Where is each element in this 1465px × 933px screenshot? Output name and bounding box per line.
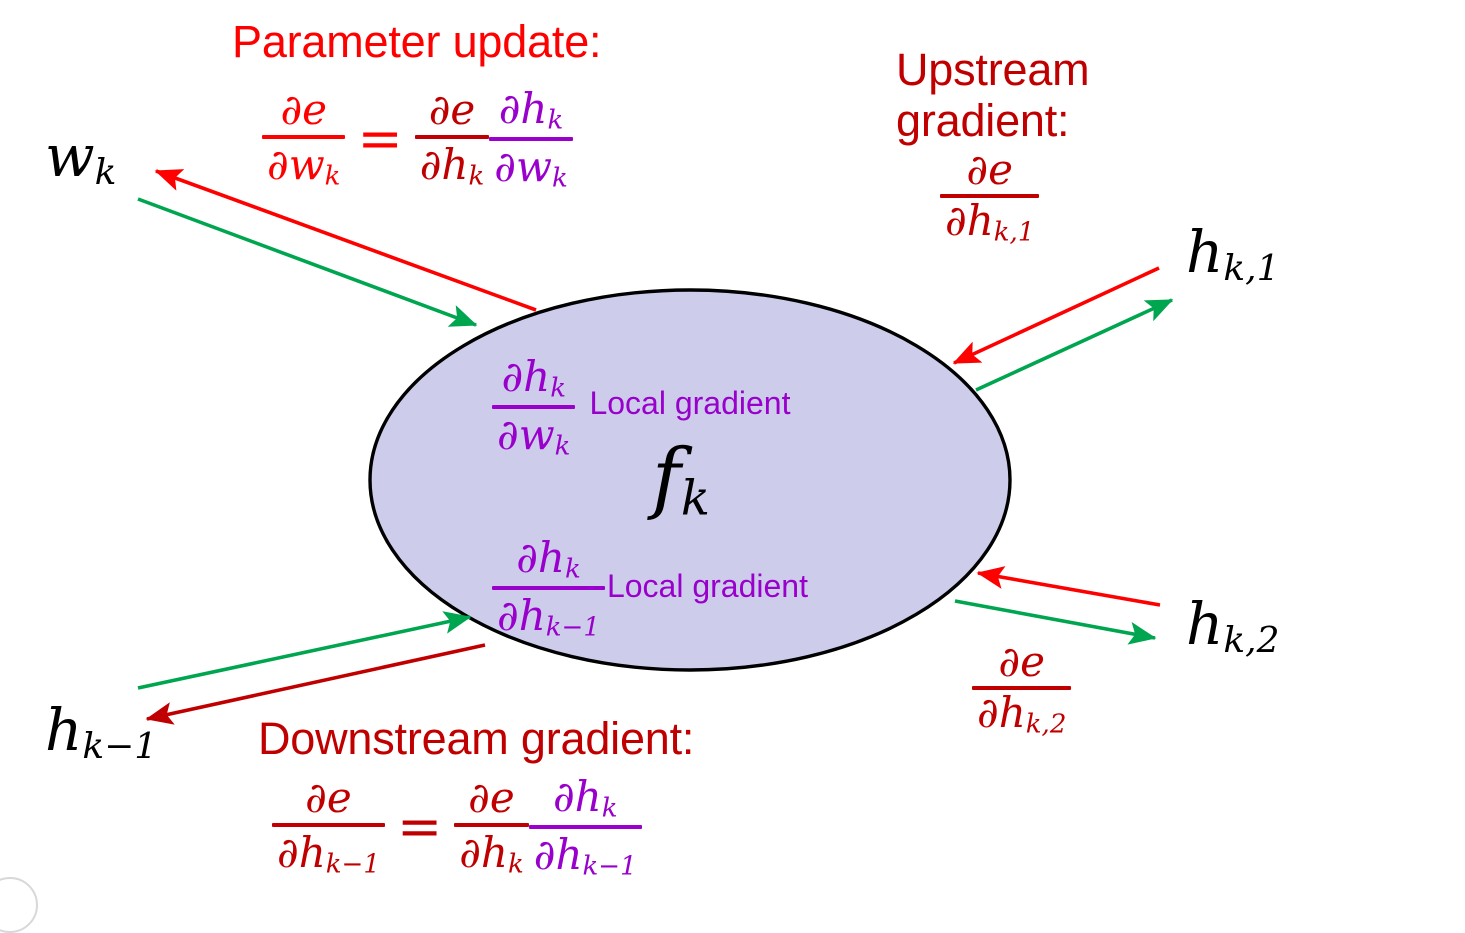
param-update-lhs-numerator: ∂e [262,85,345,134]
downstream-rhs2-numerator: ∂hk [529,772,642,824]
local-gradient-top-denominator: ∂wk [492,410,575,462]
downstream-lhs-numerator: ∂e [272,773,385,822]
fraction-bar [415,135,490,139]
param-update-lhs-fraction: ∂e ∂wk [262,85,345,192]
downstream-rhs1-numerator: ∂e [454,773,529,822]
local-gradient-bottom-denominator: ∂hk−1 [492,591,605,643]
param-update-rhs2-numerator: ∂hk [489,84,572,136]
fraction-bar [489,137,572,141]
arrow-forward-w-into-node [138,199,476,325]
param-update-rhs1-denominator: ∂hk [415,140,490,192]
node-local-gradient-bottom-row: ∂hk ∂hk−1 Local gradient [492,533,808,642]
arrow-backward-node-to-h-prev [147,645,485,719]
node-local-gradient-top-row: ∂hk ∂wk Local gradient [492,352,790,461]
param-update-rhs1-fraction: ∂e ∂hk [415,85,490,192]
arrow-forward-h-prev-into-node [138,617,470,688]
param-update-rhs2-denominator: ∂wk [489,142,572,194]
param-update-lhs-denominator: ∂wk [262,140,345,192]
arrow-backward-h-k-1-to-node [954,268,1159,363]
lower-right-gradient-fraction-wrap: ∂e ∂hk,2 [972,640,1071,739]
parameter-update-heading: Parameter update: [232,18,601,66]
downstream-rhs1-denominator: ∂hk [454,828,529,880]
upstream-gradient-numerator: ∂e [940,148,1039,193]
label-h-k-1: hk,1 [1186,222,1279,288]
lower-right-gradient-numerator: ∂e [972,640,1071,685]
downstream-gradient-heading: Downstream gradient: [258,715,694,763]
local-gradient-bottom-numerator: ∂hk [492,533,605,585]
lower-right-gradient-fraction: ∂e ∂hk,2 [972,640,1071,739]
label-h-k-2: hk,2 [1186,594,1279,660]
param-update-equals-sign: = [345,107,414,170]
downstream-rhs2-fraction: ∂hk ∂hk−1 [529,772,642,881]
downstream-lhs-denominator: ∂hk−1 [272,828,385,880]
param-update-rhs2-fraction: ∂hk ∂wk [489,84,572,193]
fraction-bar [454,823,529,827]
downstream-equals-sign: = [385,795,454,858]
diagram-canvas: Parameter update: ∂e ∂wk = ∂e ∂hk ∂hk ∂w… [0,0,1465,915]
local-gradient-top-numerator: ∂hk [492,352,575,404]
arrow-backward-h-k-2-to-node [978,573,1160,605]
local-gradient-bottom-fraction: ∂hk ∂hk−1 [492,533,605,642]
upstream-gradient-fraction: ∂e ∂hk,1 [940,148,1039,247]
downstream-rhs1-fraction: ∂e ∂hk [454,773,529,880]
fraction-bar [492,586,605,590]
downstream-gradient-equation: ∂e ∂hk−1 = ∂e ∂hk ∂hk ∂hk−1 [272,772,642,881]
label-w-k: wk [45,126,116,192]
upstream-gradient-heading-line1: Upstream [896,46,1089,94]
local-gradient-top-fraction: ∂hk ∂wk [492,352,575,461]
upstream-gradient-denominator: ∂hk,1 [940,199,1039,247]
arrow-forward-node-to-h-k-1 [976,300,1172,390]
lower-right-gradient-denominator: ∂hk,2 [972,691,1071,739]
local-gradient-top-caption: Local gradient [575,385,790,428]
fraction-bar [529,825,642,829]
upstream-gradient-heading-line2: gradient: [896,97,1069,145]
downstream-rhs2-denominator: ∂hk−1 [529,830,642,882]
fraction-bar [272,823,385,827]
fraction-bar [492,405,575,409]
fraction-bar [262,135,345,139]
parameter-update-equation: ∂e ∂wk = ∂e ∂hk ∂hk ∂wk [262,84,573,193]
label-h-k-minus-1: hk−1 [45,700,157,766]
corner-arc-artifact [0,877,38,933]
node-function-label: fk [652,437,710,524]
local-gradient-bottom-caption: Local gradient [605,568,808,607]
downstream-lhs-fraction: ∂e ∂hk−1 [272,773,385,880]
param-update-rhs1-numerator: ∂e [415,85,490,134]
upstream-gradient-fraction-wrap: ∂e ∂hk,1 [940,148,1039,247]
arrow-forward-node-to-h-k-2 [955,601,1155,638]
